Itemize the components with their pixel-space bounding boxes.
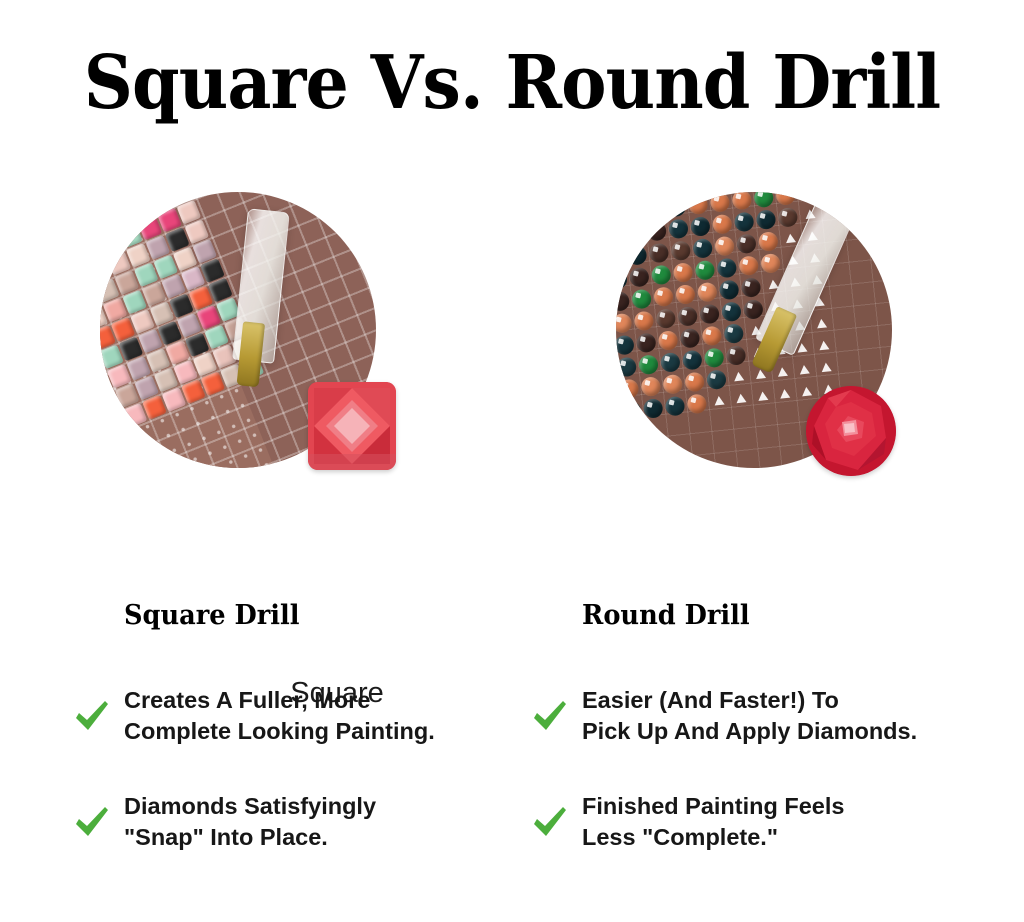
round-drill-heading: Round Drill xyxy=(582,600,932,631)
green-check-icon xyxy=(530,696,570,736)
green-check-icon xyxy=(530,802,570,842)
round-photo-block: Round xyxy=(612,192,922,472)
square-drill-column: Square Drill Creates A Fuller, More Comp… xyxy=(72,600,492,897)
list-item-label: Diamonds Satisfyingly "Snap" Into Place. xyxy=(124,791,376,853)
infographic-page: Square Vs. Round Drill xyxy=(0,0,1024,922)
green-check-icon xyxy=(72,696,112,736)
square-gem-icon xyxy=(308,382,396,470)
round-gem-icon xyxy=(806,386,896,476)
page-title: Square Vs. Round Drill xyxy=(41,46,983,120)
list-item: Creates A Fuller, More Complete Looking … xyxy=(72,685,492,747)
list-item-label: Finished Painting Feels Less "Complete." xyxy=(582,791,844,853)
list-item-label: Creates A Fuller, More Complete Looking … xyxy=(124,685,435,747)
square-drill-heading: Square Drill xyxy=(124,600,474,631)
list-item: Finished Painting Feels Less "Complete." xyxy=(530,791,950,853)
round-drill-column: Round Drill Easier (And Faster!) To Pick… xyxy=(530,600,950,897)
green-check-icon xyxy=(72,802,112,842)
list-item: Easier (And Faster!) To Pick Up And Appl… xyxy=(530,685,950,747)
list-item: Diamonds Satisfyingly "Snap" Into Place. xyxy=(72,791,492,853)
square-photo-block: Square xyxy=(100,192,410,472)
list-item-label: Easier (And Faster!) To Pick Up And Appl… xyxy=(582,685,917,747)
